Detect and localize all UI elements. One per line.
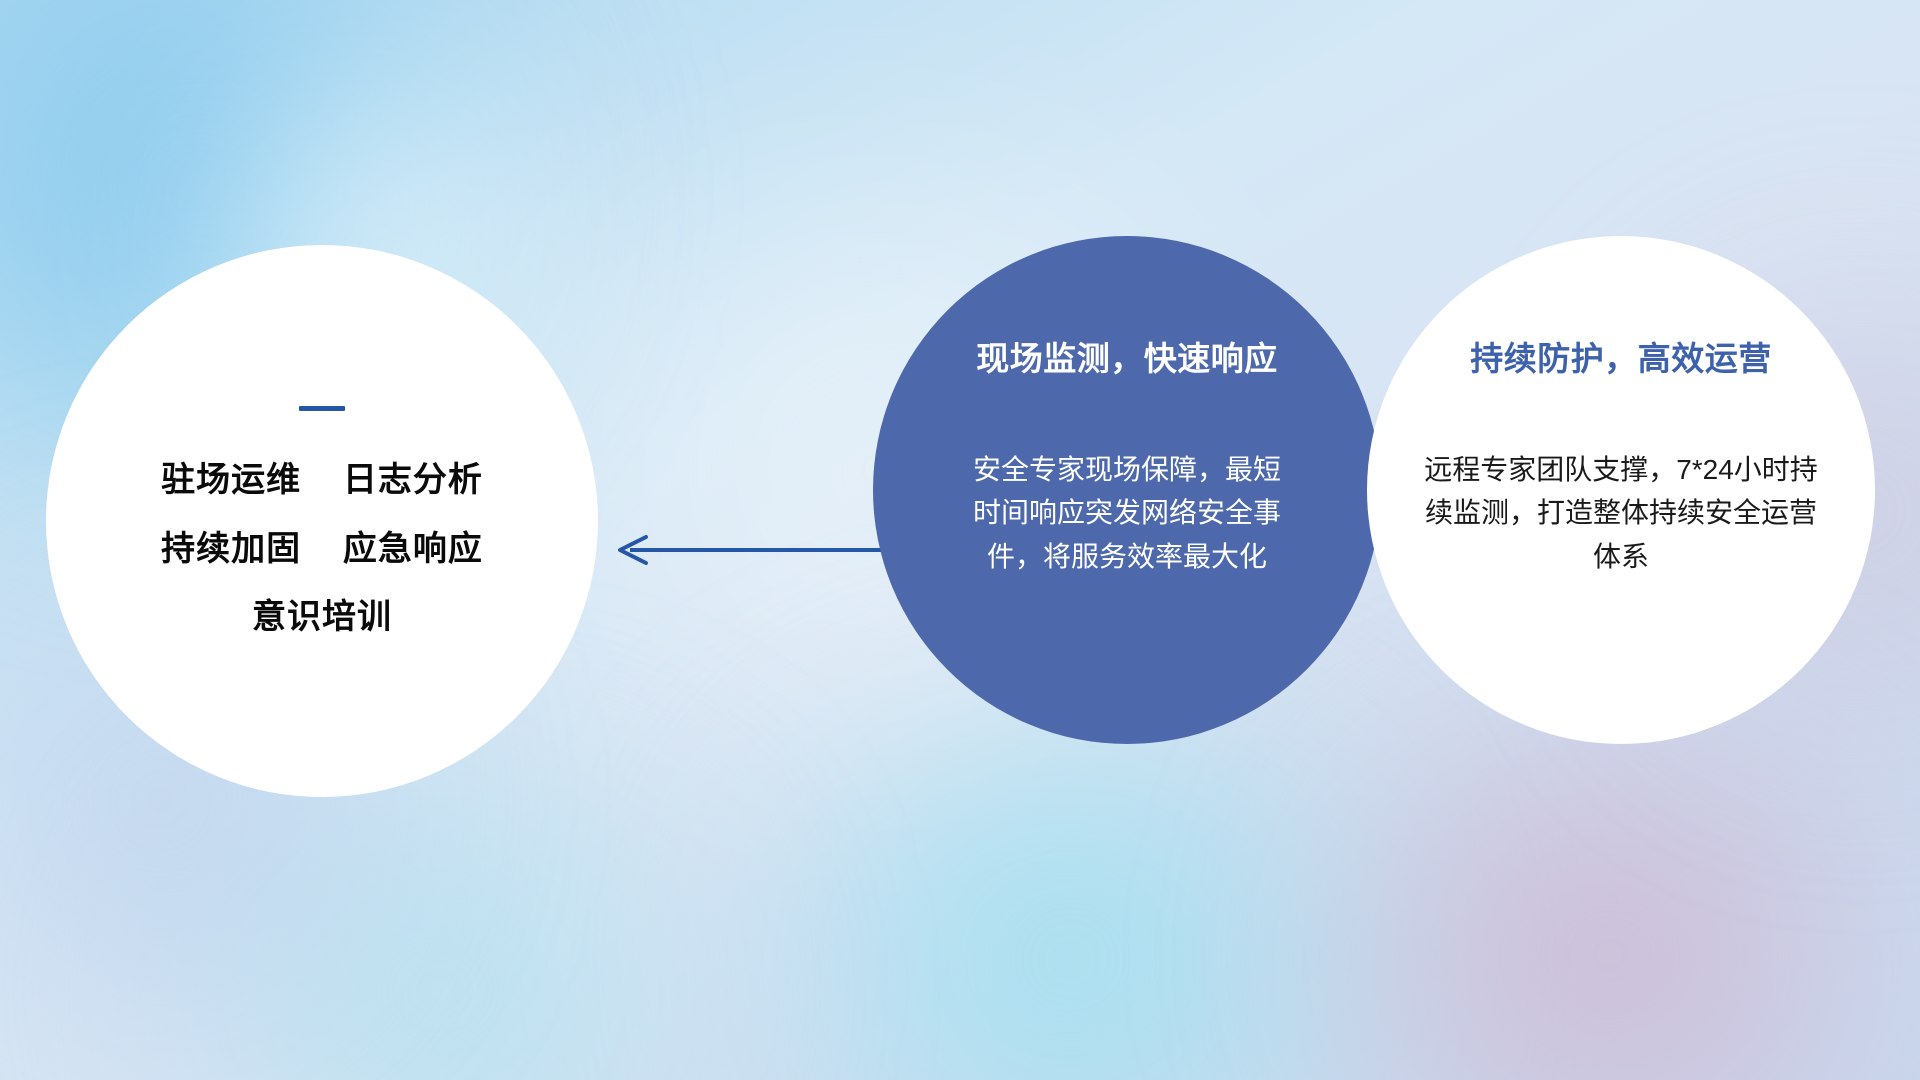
capability-line-3: 意识培训 (252, 600, 392, 636)
onsite-circle-body: 安全专家现场保障，最短时间响应突发网络安全事件，将服务效率最大化 (962, 448, 1292, 578)
capability-line-1: 驻场运维 日志分析 (161, 463, 483, 499)
slide-canvas: 驻场运维 日志分析 持续加固 应急响应 意识培训 现场监测，快速响应 安全专家现… (0, 0, 1920, 1080)
remote-circle-body: 远程专家团队支撑，7*24小时持续监测，打造整体持续安全运营体系 (1421, 448, 1821, 578)
connector-arrow-icon (600, 510, 900, 590)
onsite-circle-title: 现场监测，快速响应 (976, 332, 1278, 380)
onsite-monitoring-circle: 现场监测，快速响应 安全专家现场保障，最短时间响应突发网络安全事件，将服务效率最… (873, 236, 1381, 744)
remote-circle-title: 持续防护，高效运营 (1470, 332, 1772, 380)
capabilities-circle: 驻场运维 日志分析 持续加固 应急响应 意识培训 (46, 245, 598, 797)
divider-dash-icon (299, 406, 345, 411)
capability-line-2: 持续加固 应急响应 (161, 532, 483, 568)
remote-operations-circle: 持续防护，高效运营 远程专家团队支撑，7*24小时持续监测，打造整体持续安全运营… (1367, 236, 1875, 744)
